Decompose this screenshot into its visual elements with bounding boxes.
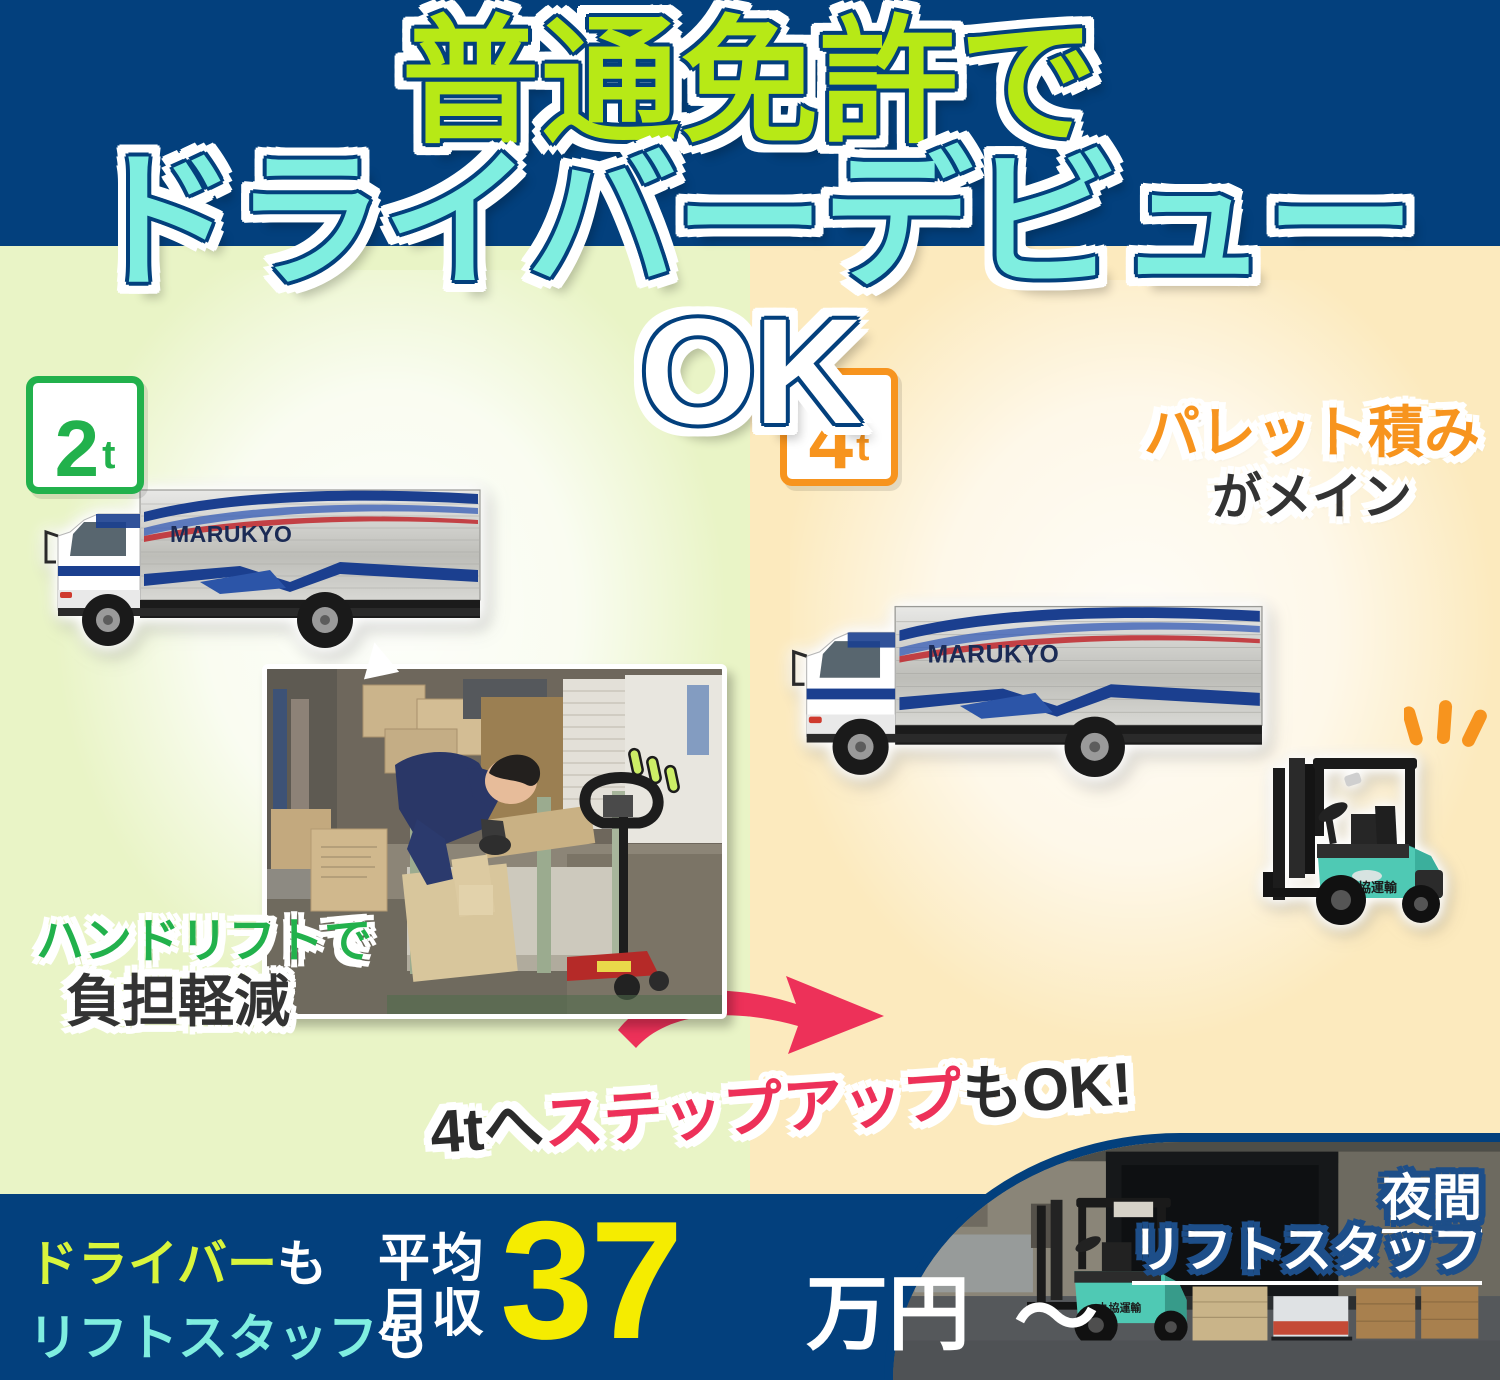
truck-4t-image: MARUKYO	[785, 585, 1275, 795]
truck-4t-svg: MARUKYO	[785, 585, 1275, 790]
night-staff-line-1: 夜間	[1132, 1172, 1482, 1224]
handlift-caption-bottom: 負担軽減	[66, 973, 372, 1030]
headline-line-2: ドライバーデビューOK	[0, 146, 1500, 446]
handlift-caption-top: ハンドリフトで	[36, 918, 372, 967]
income-amount: 37	[500, 1196, 680, 1364]
income-unit: 万円	[806, 1274, 970, 1356]
night-staff-line-2-text: リフトスタッフ	[1132, 1222, 1482, 1285]
bottom-line-1-tail: も	[277, 1236, 327, 1292]
headline-ok-text: OK	[640, 287, 861, 455]
stepup-caption-part3: もOK!	[960, 1050, 1134, 1129]
stepup-caption-part1: 4tへ	[428, 1091, 546, 1166]
headline-block: 普通免許で ドライバーデビューOK	[0, 0, 1500, 446]
truck-2t-svg: MARUKYO	[40, 470, 490, 660]
headline-line-2-text: ドライバーデビュー	[87, 137, 1414, 305]
night-staff-line-2: リフトスタッフ	[1132, 1224, 1482, 1276]
sparkle-icon	[1404, 700, 1490, 771]
pallet-caption-bottom: がメイン	[1144, 471, 1480, 524]
truck-2t-image: MARUKYO	[40, 470, 490, 665]
income-tilde: 〜	[1014, 1276, 1098, 1360]
bottom-line-2: リフトスタッフも	[28, 1298, 428, 1370]
bottom-line-2-accent: リフトスタッフ	[28, 1310, 378, 1366]
headline-line-1: 普通免許で	[0, 14, 1500, 152]
night-staff-caption: 夜間 リフトスタッフ	[1132, 1172, 1482, 1276]
average-label: 平均	[378, 1232, 485, 1287]
recruitment-poster: 普通免許で ドライバーデビューOK 2 t 4 t	[0, 0, 1500, 1380]
bottom-line-1: ドライバーも	[28, 1224, 327, 1296]
truck-4t-brand-text: MARUKYO	[928, 642, 1060, 669]
truck-2t-brand-text: MARUKYO	[170, 521, 292, 547]
handlift-caption: ハンドリフトで 負担軽減	[36, 918, 372, 1030]
bottom-line-1-accent: ドライバー	[28, 1236, 277, 1292]
monthly-income-label: 月収	[378, 1287, 485, 1342]
income-labels: 平均 月収	[378, 1232, 485, 1341]
